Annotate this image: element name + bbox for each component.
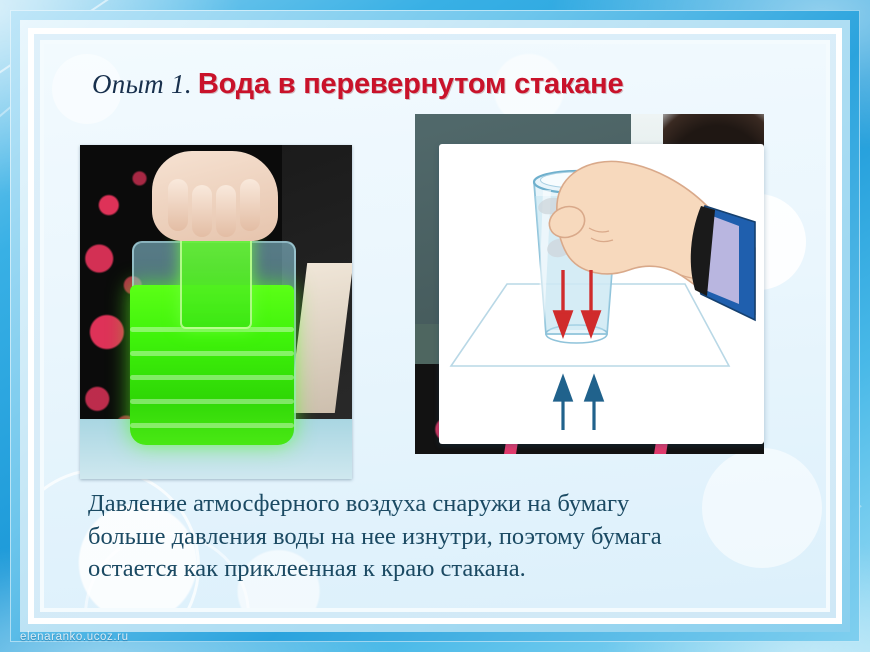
container-rib-3 bbox=[130, 375, 294, 380]
slide-content-panel: Опыт 1.Вода в перевернутом стакане bbox=[44, 44, 826, 608]
illustration-card bbox=[439, 144, 764, 444]
container-rib-5 bbox=[130, 423, 294, 428]
caption-text: Давление атмосферного воздуха снаружи на… bbox=[88, 488, 778, 586]
atmospheric-pressure-arrows bbox=[555, 378, 602, 430]
container-rib-4 bbox=[130, 399, 294, 404]
page-title: Вода в перевернутом стакане bbox=[198, 68, 624, 100]
finger-4 bbox=[240, 179, 260, 231]
finger-1 bbox=[168, 179, 188, 231]
slide-title: Опыт 1.Вода в перевернутом стакане bbox=[92, 68, 623, 101]
experiment-label: Опыт 1. bbox=[92, 69, 192, 99]
container-rib-2 bbox=[130, 351, 294, 356]
photo-left-experiment bbox=[80, 145, 352, 479]
inverted-glass-diagram bbox=[439, 144, 764, 444]
caption-line-2: больше давления воды на нее изнутри, поэ… bbox=[88, 521, 778, 554]
slide: Опыт 1.Вода в перевернутом стакане bbox=[0, 0, 870, 652]
caption-line-1: Давление атмосферного воздуха снаружи на… bbox=[88, 488, 778, 521]
finger-3 bbox=[216, 185, 236, 237]
watermark: elenaranko.ucoz.ru bbox=[20, 631, 129, 643]
caption-line-3: остается как приклеенная к краю стакана. bbox=[88, 553, 778, 586]
finger-2 bbox=[192, 185, 212, 237]
